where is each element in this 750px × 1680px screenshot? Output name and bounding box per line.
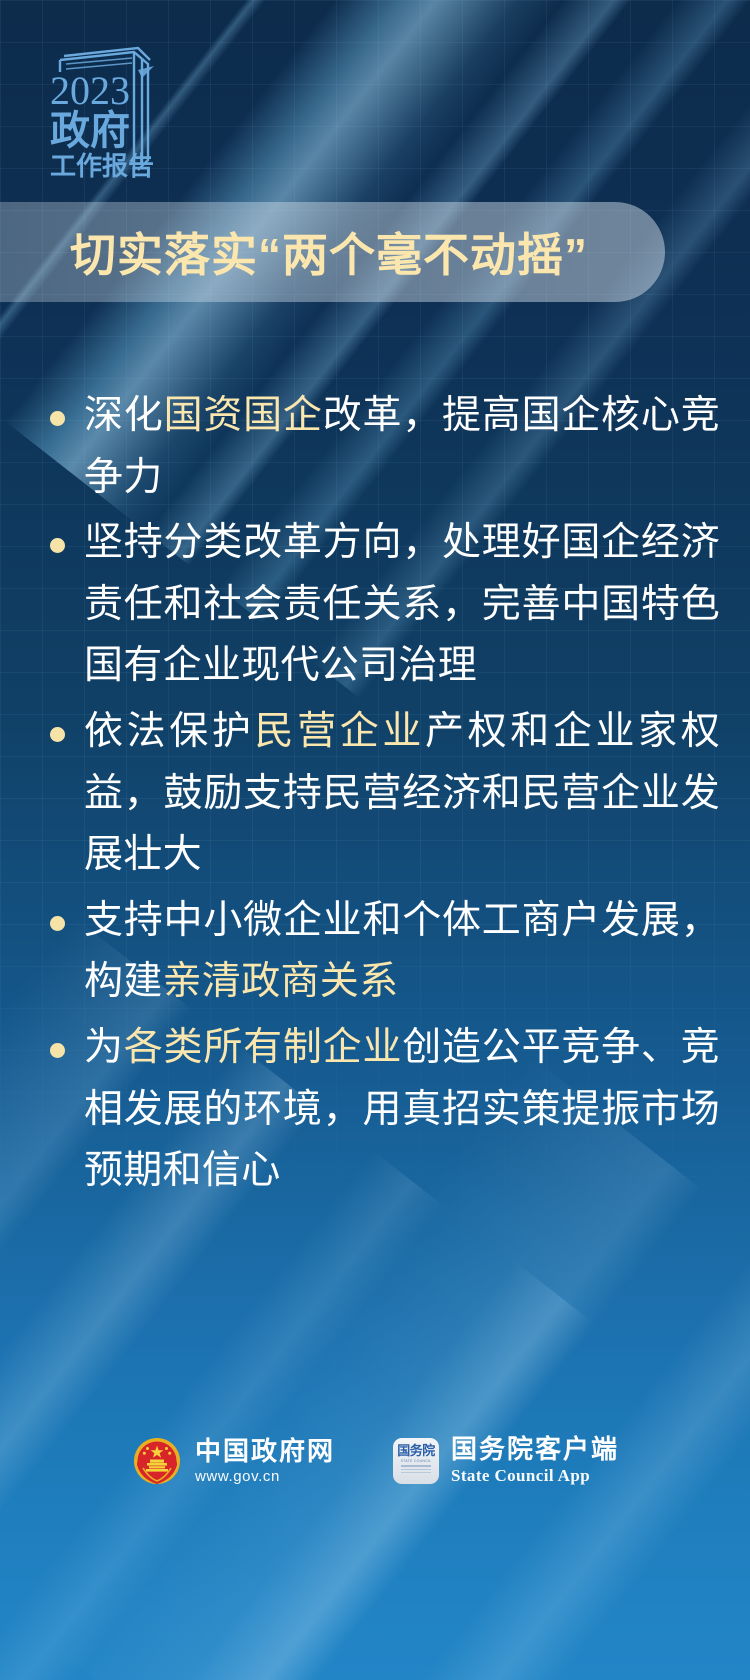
list-item: 坚持分类改革方向，处理好国企经济责任和社会责任关系，完善中国特色国有企业现代公司…	[30, 512, 720, 697]
app-brand[interactable]: 国务院 STATE COUNCIL 国务院客户端 State Council A…	[393, 1435, 619, 1486]
bullet-plain-text: 坚持分类改革方向，处理好国企经济责任和社会责任关系，完善中国特色国有企业现代公司…	[84, 521, 720, 687]
bullet-dot-icon	[50, 538, 65, 553]
bullet-plain-text: 依法保护	[84, 710, 254, 753]
bullet-list: 深化国资国企改革，提高国企核心竞争力 坚持分类改革方向，处理好国企经济责任和社会…	[30, 385, 720, 1206]
report-logo: 2023 政府 工作报告	[42, 42, 172, 182]
bullet-text: 支持中小微企业和个体工商户发展，构建亲清政商关系	[84, 890, 720, 1013]
bullet-plain-text: 为	[84, 1026, 124, 1069]
gov-brand-url: www.gov.cn	[195, 1468, 335, 1485]
bullet-text: 深化国资国企改革，提高国企核心竞争力	[84, 385, 720, 508]
app-brand-subtitle: State Council App	[451, 1466, 619, 1486]
app-icon-label-en: STATE COUNCIL	[401, 1459, 432, 1463]
bullet-highlight-text: 亲清政商关系	[163, 960, 399, 1003]
bullet-marker-wrap	[30, 701, 84, 742]
app-icon-label-cn: 国务院	[397, 1444, 435, 1457]
bullet-highlight-text: 国资国企	[164, 394, 323, 437]
list-item: 依法保护民营企业产权和企业家权益，鼓励支持民营经济和民营企业发展壮大	[30, 701, 720, 886]
bullet-dot-icon	[50, 1043, 65, 1058]
poster-root: 2023 政府 工作报告 切实落实“两个毫不动摇” 深化国资国企改革，提高国企核…	[0, 0, 750, 1680]
app-brand-labels: 国务院客户端 State Council App	[451, 1435, 619, 1486]
logo-line2: 工作报告	[50, 151, 154, 181]
logo-line1: 政府	[50, 109, 130, 153]
bullet-text: 坚持分类改革方向，处理好国企经济责任和社会责任关系，完善中国特色国有企业现代公司…	[84, 512, 720, 697]
list-item: 深化国资国企改革，提高国企核心竞争力	[30, 385, 720, 508]
bullet-highlight-text: 民营企业	[254, 710, 424, 753]
bullet-dot-icon	[50, 727, 65, 742]
gov-brand-labels: 中国政府网 www.gov.cn	[195, 1437, 335, 1485]
bullet-text: 为各类所有制企业创造公平竞争、竞相发展的环境，用真招实策提振市场预期和信心	[84, 1017, 720, 1202]
bullet-marker-wrap	[30, 512, 84, 553]
bullet-plain-text: 深化	[84, 394, 164, 437]
list-item: 为各类所有制企业创造公平竞争、竞相发展的环境，用真招实策提振市场预期和信心	[30, 1017, 720, 1202]
state-council-app-icon: 国务院 STATE COUNCIL	[393, 1438, 439, 1484]
bullet-marker-wrap	[30, 1017, 84, 1058]
bullet-marker-wrap	[30, 890, 84, 931]
book-icon: 2023 政府 工作报告	[42, 42, 172, 182]
national-emblem-icon	[131, 1435, 183, 1487]
gov-brand-name: 中国政府网	[195, 1437, 335, 1466]
gov-brand[interactable]: 中国政府网 www.gov.cn	[131, 1435, 335, 1487]
gate-graphic-icon	[401, 1465, 431, 1477]
bullet-marker-wrap	[30, 385, 84, 426]
page-title: 切实落实“两个毫不动摇”	[70, 219, 588, 285]
list-item: 支持中小微企业和个体工商户发展，构建亲清政商关系	[30, 890, 720, 1013]
title-banner: 切实落实“两个毫不动摇”	[0, 202, 665, 302]
logo-year: 2023	[50, 68, 130, 113]
bullet-text: 依法保护民营企业产权和企业家权益，鼓励支持民营经济和民营企业发展壮大	[84, 701, 720, 886]
app-brand-name: 国务院客户端	[451, 1435, 619, 1464]
bullet-dot-icon	[50, 411, 65, 426]
bullet-highlight-text: 各类所有制企业	[124, 1026, 402, 1069]
bullet-dot-icon	[50, 916, 65, 931]
footer: 中国政府网 www.gov.cn 国务院 STATE COUNCIL 国务院客户…	[0, 1435, 750, 1487]
